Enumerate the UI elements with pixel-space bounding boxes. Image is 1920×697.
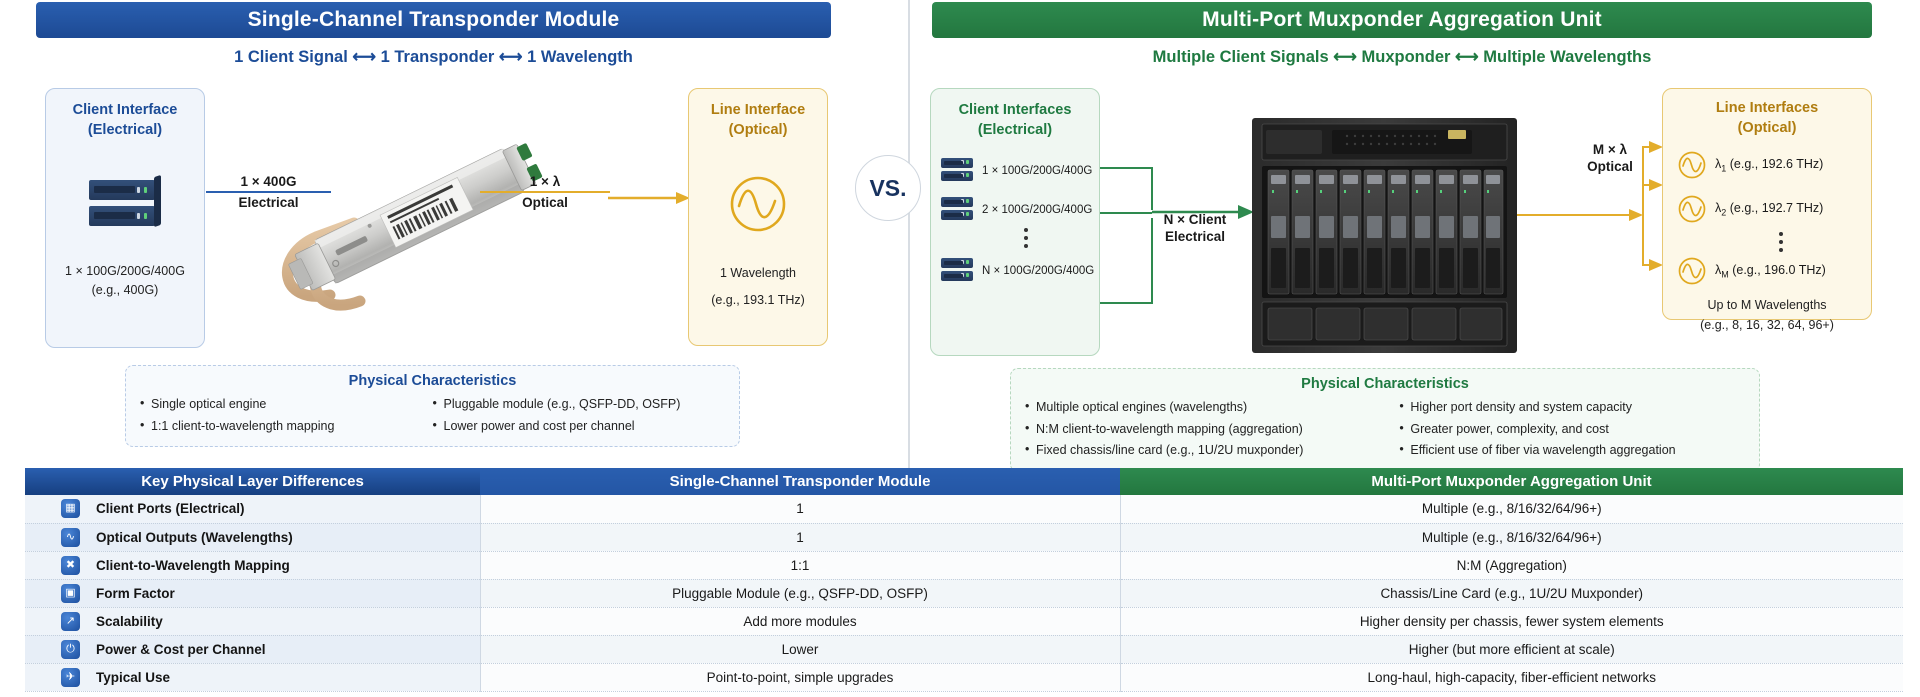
left-optical-arrow-icon (608, 190, 692, 206)
left-line-note-line2: (e.g., 193.1 THz) (711, 291, 805, 310)
right-line-note-line1: Up to M Wavelengths (1707, 298, 1826, 312)
table-cell-feature: ▣ Form Factor (25, 579, 480, 607)
table-feature-label: Typical Use (96, 670, 170, 685)
right-line-box-title: Line Interfaces (Optical) (1716, 99, 1818, 138)
left-physical-title: Physical Characteristics (140, 373, 725, 389)
vs-badge-text: VS. (869, 175, 906, 202)
left-physical-characteristics-panel: Physical Characteristics Single optical … (125, 365, 740, 447)
mapping-icon: ✖ (61, 556, 80, 575)
left-client-interface-box: Client Interface (Electrical) 1 × 100G/2… (45, 88, 205, 348)
sine-wave-circle-icon (1677, 194, 1707, 224)
right-physical-item: N:M client-to-wavelength mapping (aggreg… (1025, 419, 1399, 441)
table-cell-transponder: 1:1 (480, 551, 1120, 579)
right-electrical-link-bottom: Electrical (1140, 229, 1250, 244)
comparison-table: Key Physical Layer Differences Single-Ch… (25, 468, 1903, 692)
client-row-n-label: N × 100G/200G/400G (982, 265, 1094, 277)
table-cell-transponder: Point-to-point, simple upgrades (480, 663, 1120, 691)
left-line-note-line1: 1 Wavelength (720, 266, 796, 280)
vs-badge: VS. (855, 155, 921, 221)
left-physical-column-2: Pluggable module (e.g., QSFP-DD, OSFP) L… (433, 394, 726, 437)
right-line-interface-box: Line Interfaces (Optical) λ1 (e.g., 192.… (1662, 88, 1872, 320)
wl2-text: (e.g., 192.7 THz) (1726, 201, 1823, 215)
table-header-row: Key Physical Layer Differences Single-Ch… (25, 468, 1903, 495)
left-panel-title: Single-Channel Transponder Module (36, 2, 831, 38)
server-stack-icon (941, 258, 975, 283)
table-cell-muxponder: Long-haul, high-capacity, fiber-efficien… (1120, 663, 1903, 691)
left-client-box-title: Client Interface (Electrical) (73, 101, 178, 140)
table-cell-muxponder: Multiple (e.g., 8/16/32/64/96+) (1120, 523, 1903, 551)
table-cell-transponder: 1 (480, 495, 1120, 523)
waveform-icon: ∿ (61, 528, 80, 547)
right-electrical-link-top: N × Client (1140, 212, 1250, 227)
right-line-title-line2: (Optical) (1738, 120, 1797, 136)
left-client-note-line2: (e.g., 400G) (92, 283, 159, 297)
table-feature-label: Scalability (96, 614, 163, 629)
wl1-text: (e.g., 192.6 THz) (1726, 157, 1823, 171)
right-client-title-line2: (Electrical) (978, 122, 1052, 138)
comparison-infographic: Single-Channel Transponder Module 1 Clie… (0, 0, 1920, 697)
ports-icon: ▦ (61, 499, 80, 518)
table-cell-muxponder: Higher density per chassis, fewer system… (1120, 607, 1903, 635)
table-cell-muxponder: Chassis/Line Card (e.g., 1U/2U Muxponder… (1120, 579, 1903, 607)
power-icon: ⏻ (61, 640, 80, 659)
table-row: ▣ Form Factor Pluggable Module (e.g., QS… (25, 579, 1903, 607)
right-electrical-link-label: N × Client Electrical (1140, 212, 1250, 244)
left-physical-item: Pluggable module (e.g., QSFP-DD, OSFP) (433, 394, 726, 416)
scalability-icon: ↗ (61, 612, 80, 631)
client-row-2: 2 × 100G/200G/400G (941, 197, 1099, 222)
left-line-note: 1 Wavelength (e.g., 193.1 THz) (711, 264, 805, 310)
form-factor-icon: ▣ (61, 584, 80, 603)
right-physical-item: Greater power, complexity, and cost (1399, 419, 1745, 441)
table-row: ▦ Client Ports (Electrical) 1 Multiple (… (25, 495, 1903, 523)
right-line-note: Up to M Wavelengths (e.g., 8, 16, 32, 64… (1700, 296, 1834, 335)
wavelength-ellipsis-icon (1691, 232, 1871, 252)
client-row-1: 1 × 100G/200G/400G (941, 158, 1099, 183)
wlm-text: (e.g., 196.0 THz) (1729, 263, 1826, 277)
left-client-title-line2: (Electrical) (88, 122, 162, 138)
wavelength-row-2-label: λ2 (e.g., 192.7 THz) (1715, 201, 1823, 218)
table-header-muxponder: Multi-Port Muxponder Aggregation Unit (1120, 468, 1903, 495)
table-cell-transponder: Add more modules (480, 607, 1120, 635)
left-line-box-title: Line Interface (Optical) (711, 101, 805, 140)
left-client-title-line1: Client Interface (73, 102, 178, 118)
table-header-feature: Key Physical Layer Differences (25, 468, 480, 495)
left-line-interface-box: Line Interface (Optical) 1 Wavelength (e… (688, 88, 828, 346)
left-physical-item: Lower power and cost per channel (433, 416, 726, 438)
client-row-2-label: 2 × 100G/200G/400G (982, 204, 1092, 216)
left-physical-item: Single optical engine (140, 394, 433, 416)
table-cell-muxponder: Multiple (e.g., 8/16/32/64/96+) (1120, 495, 1903, 523)
left-physical-column-1: Single optical engine 1:1 client-to-wave… (140, 394, 433, 437)
left-optical-link-bottom: Optical (480, 195, 610, 210)
right-physical-characteristics-panel: Physical Characteristics Multiple optica… (1010, 368, 1760, 472)
right-client-interface-box: Client Interfaces (Electrical) 1 × 100G/… (930, 88, 1100, 356)
left-client-note: 1 × 100G/200G/400G (e.g., 400G) (65, 262, 185, 300)
table-cell-feature: ⏻ Power & Cost per Channel (25, 635, 480, 663)
right-physical-column-2: Higher port density and system capacity … (1399, 397, 1745, 462)
table-cell-muxponder: N:M (Aggregation) (1120, 551, 1903, 579)
left-physical-item: 1:1 client-to-wavelength mapping (140, 416, 433, 438)
left-optical-link-label: 1 × λ Optical (480, 174, 610, 210)
comparison-table-wrapper: Key Physical Layer Differences Single-Ch… (25, 468, 1903, 692)
table-feature-label: Form Factor (96, 586, 175, 601)
table-feature-label: Power & Cost per Channel (96, 642, 266, 657)
table-cell-feature: ↗ Scalability (25, 607, 480, 635)
server-stack-icon (941, 197, 975, 222)
table-row: ✖ Client-to-Wavelength Mapping 1:1 N:M (… (25, 551, 1903, 579)
client-row-n: N × 100G/200G/400G (941, 258, 1099, 283)
table-cell-feature: ∿ Optical Outputs (Wavelengths) (25, 523, 480, 551)
left-panel-title-text: Single-Channel Transponder Module (248, 8, 620, 32)
panel-divider (908, 0, 910, 470)
right-physical-item: Higher port density and system capacity (1399, 397, 1745, 419)
client-rows-ellipsis-icon (953, 228, 1099, 248)
server-stack-icon (89, 180, 161, 228)
right-line-title-line1: Line Interfaces (1716, 100, 1818, 116)
table-row: ∿ Optical Outputs (Wavelengths) 1 Multip… (25, 523, 1903, 551)
table-cell-transponder: Pluggable Module (e.g., QSFP-DD, OSFP) (480, 579, 1120, 607)
sine-wave-circle-icon (1677, 150, 1707, 180)
right-physical-item: Fixed chassis/line card (e.g., 1U/2U mux… (1025, 440, 1399, 462)
right-client-title-line1: Client Interfaces (959, 102, 1072, 118)
wavelength-row-1-label: λ1 (e.g., 192.6 THz) (1715, 157, 1823, 174)
right-panel-subtitle: Multiple Client Signals ⟷ Muxponder ⟷ Mu… (932, 47, 1872, 67)
server-stack-icon (941, 158, 975, 183)
right-physical-item: Multiple optical engines (wavelengths) (1025, 397, 1399, 419)
table-row: ⏻ Power & Cost per Channel Lower Higher … (25, 635, 1903, 663)
sine-wave-circle-icon (728, 174, 788, 234)
sine-wave-circle-icon (1677, 256, 1707, 286)
right-physical-title: Physical Characteristics (1025, 376, 1745, 392)
right-panel-title-text: Multi-Port Muxponder Aggregation Unit (1202, 8, 1602, 32)
typical-use-icon: ✈ (61, 668, 80, 687)
table-feature-label: Client Ports (Electrical) (96, 501, 245, 516)
table-row: ✈ Typical Use Point-to-point, simple upg… (25, 663, 1903, 691)
left-client-note-line1: 1 × 100G/200G/400G (65, 264, 185, 278)
wavelength-row-1: λ1 (e.g., 192.6 THz) (1677, 150, 1871, 180)
wavelength-fanout-connector (1517, 125, 1667, 275)
table-cell-feature: ✈ Typical Use (25, 663, 480, 691)
wavelength-row-m-label: λM (e.g., 196.0 THz) (1715, 263, 1826, 280)
right-line-note-line2: (e.g., 8, 16, 32, 64, 96+) (1700, 318, 1834, 332)
left-optical-link-line (480, 191, 610, 193)
table-cell-transponder: Lower (480, 635, 1120, 663)
table-cell-transponder: 1 (480, 523, 1120, 551)
right-panel-title: Multi-Port Muxponder Aggregation Unit (932, 2, 1872, 38)
right-physical-item: Efficient use of fiber via wavelength ag… (1399, 440, 1745, 462)
left-optical-link-top: 1 × λ (480, 174, 610, 189)
left-line-title-line2: (Optical) (729, 122, 788, 138)
qsfp-transceiver-image (268, 105, 568, 340)
wavelength-row-m: λM (e.g., 196.0 THz) (1677, 256, 1871, 286)
wavelength-row-2: λ2 (e.g., 192.7 THz) (1677, 194, 1871, 224)
table-cell-feature: ✖ Client-to-Wavelength Mapping (25, 551, 480, 579)
wlm-subscript: M (1721, 269, 1729, 279)
table-feature-label: Client-to-Wavelength Mapping (96, 558, 290, 573)
table-feature-label: Optical Outputs (Wavelengths) (96, 530, 293, 545)
table-cell-muxponder: Higher (but more efficient at scale) (1120, 635, 1903, 663)
right-client-box-title: Client Interfaces (Electrical) (959, 101, 1072, 140)
table-row: ↗ Scalability Add more modules Higher de… (25, 607, 1903, 635)
table-header-transponder: Single-Channel Transponder Module (480, 468, 1120, 495)
muxponder-chassis-image (1252, 118, 1517, 353)
comparison-table-body: ▦ Client Ports (Electrical) 1 Multiple (… (25, 495, 1903, 691)
table-cell-feature: ▦ Client Ports (Electrical) (25, 495, 480, 523)
left-line-title-line1: Line Interface (711, 102, 805, 118)
client-row-1-label: 1 × 100G/200G/400G (982, 165, 1092, 177)
comparison-table-head: Key Physical Layer Differences Single-Ch… (25, 468, 1903, 495)
left-panel-subtitle: 1 Client Signal ⟷ 1 Transponder ⟷ 1 Wave… (36, 47, 831, 67)
right-physical-column-1: Multiple optical engines (wavelengths) N… (1025, 397, 1399, 462)
